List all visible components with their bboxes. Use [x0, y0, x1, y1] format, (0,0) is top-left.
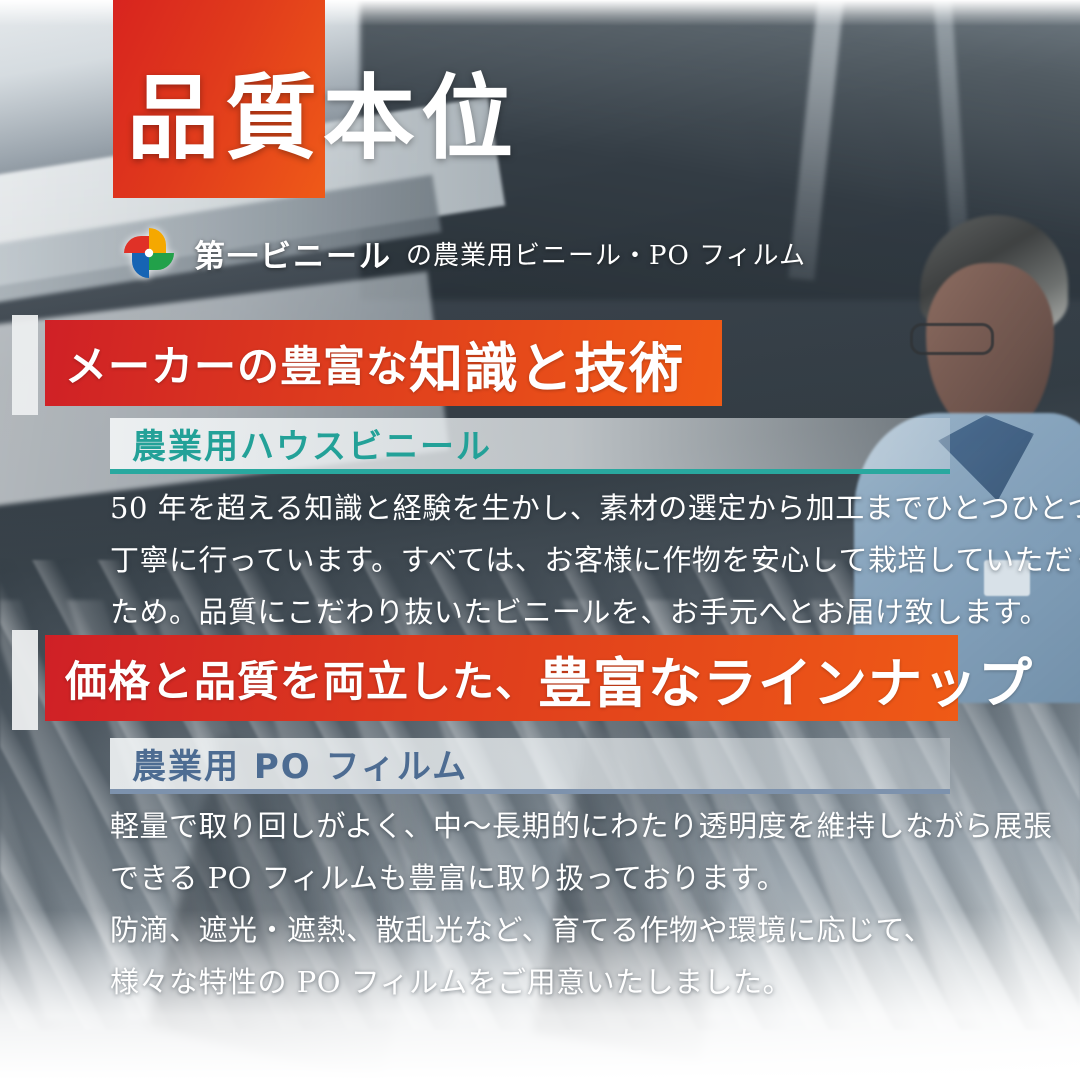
section-body-copy-1: 50 年を超える知識と経験を生かし、素材の選定から加工までひとつひとつ 丁寧に行… — [110, 482, 990, 638]
brand-tagline-row: 第一ビニール の農業用ビニール・PO フィルム — [118, 222, 806, 284]
section-body-copy-2: 軽量で取り回しがよく、中〜長期的にわたり透明度を維持しながら展張 できる PO … — [110, 800, 990, 1008]
section-heading-banner-1: メーカーの豊富な知識と技術 — [45, 320, 722, 406]
hero-title: 品質本位 — [127, 72, 519, 164]
section-subheading-2: 農業用 PO フィルム — [132, 739, 468, 788]
brand-name: 第一ビニール — [194, 231, 392, 276]
pinwheel-logo-icon — [118, 222, 180, 284]
body-line: ため。品質にこだわり抜いたビニールを、お手元へとお届け致します。 — [110, 586, 990, 638]
section-subheading-band-1: 農業用ハウスビニール — [110, 418, 950, 474]
section-heading-emphasis-1: 知識と技術 — [409, 324, 684, 403]
body-line: 軽量で取り回しがよく、中〜長期的にわたり透明度を維持しながら展張 — [110, 800, 990, 852]
brand-tagline-suffix: の農業用ビニール・PO フィルム — [406, 235, 806, 272]
section-heading-lead-2: 価格と品質を両立した、 — [65, 648, 538, 709]
promotional-banner: 品質本位 第一ビニール の農業用ビニール・PO フィルム メーカーの豊富な知識と… — [0, 0, 1080, 1080]
body-line: 丁寧に行っています。すべては、お客様に作物を安心して栽培していただく — [110, 534, 990, 586]
section-heading-banner-2: 価格と品質を両立した、豊富なラインナップ — [45, 635, 958, 721]
section-heading-emphasis-2: 豊富なラインナップ — [538, 639, 1033, 718]
section-subheading-band-2: 農業用 PO フィルム — [110, 738, 950, 794]
body-line: 防滴、遮光・遮熱、散乱光など、育てる作物や環境に応じて、 — [110, 904, 990, 956]
body-line: 50 年を超える知識と経験を生かし、素材の選定から加工までひとつひとつ — [110, 482, 990, 534]
section-accent-bar-2 — [12, 630, 38, 730]
body-line: 様々な特性の PO フィルムをご用意いたしました。 — [110, 956, 990, 1008]
body-line: できる PO フィルムも豊富に取り扱っております。 — [110, 852, 990, 904]
section-accent-bar-1 — [12, 315, 38, 415]
section-subheading-1: 農業用ハウスビニール — [132, 419, 492, 468]
banner-content: 品質本位 第一ビニール の農業用ビニール・PO フィルム メーカーの豊富な知識と… — [0, 0, 1080, 1080]
section-heading-lead-1: メーカーの豊富な — [65, 333, 409, 394]
